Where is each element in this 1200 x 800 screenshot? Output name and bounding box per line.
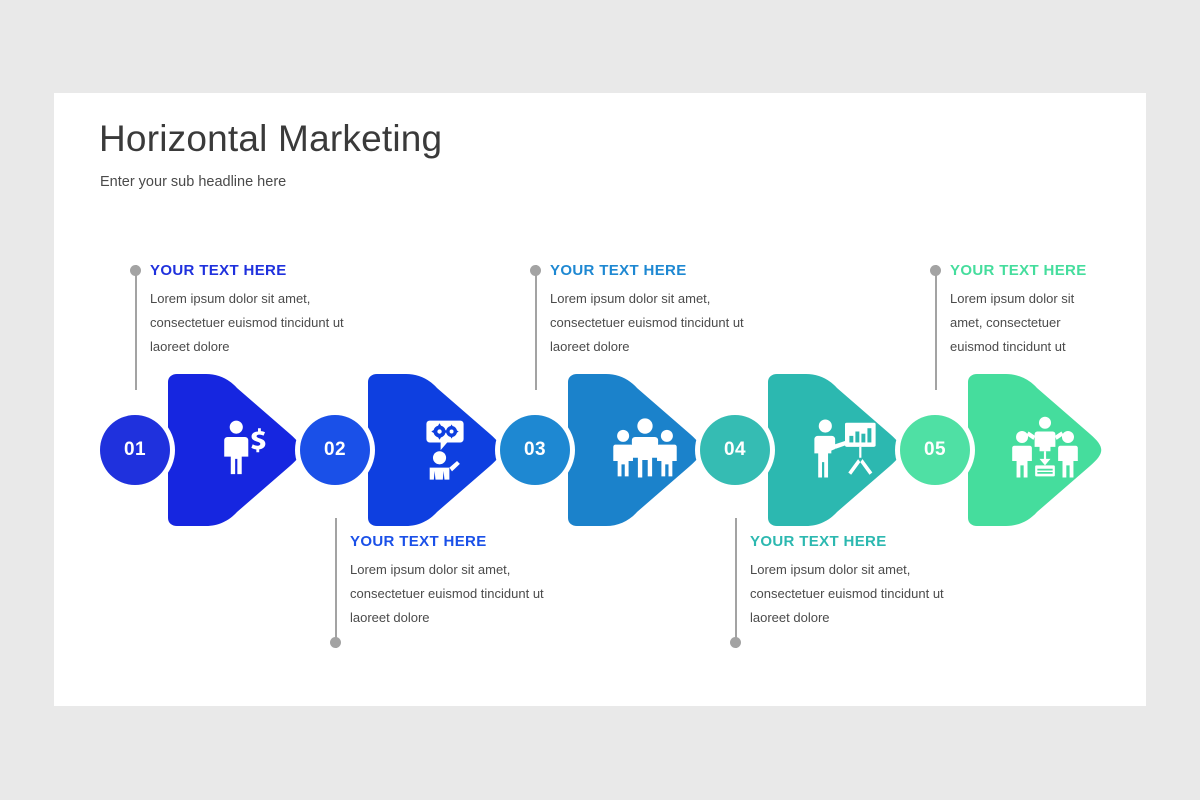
step-text-block-02: YOUR TEXT HERELorem ipsum dolor sit amet…: [350, 534, 550, 631]
connector-stem: [735, 518, 737, 648]
connector-line-01: [130, 265, 141, 390]
step-text-block-05: YOUR TEXT HERELorem ipsum dolor sit amet…: [950, 263, 1150, 360]
step-body-04: Lorem ipsum dolor sit amet, consectetuer…: [750, 558, 950, 631]
connector-dot: [930, 265, 941, 276]
step-number-label: 03: [524, 439, 546, 461]
step-number-label: 05: [924, 439, 946, 461]
step-01[interactable]: YOUR TEXT HERELorem ipsum dolor sit amet…: [132, 93, 352, 706]
step-body-02: Lorem ipsum dolor sit amet, consectetuer…: [350, 558, 550, 631]
step-text-block-04: YOUR TEXT HERELorem ipsum dolor sit amet…: [750, 534, 950, 631]
connector-stem: [135, 265, 137, 390]
connector-dot: [730, 637, 741, 648]
step-number-badge-02[interactable]: 02: [300, 415, 370, 485]
connector-line-04: [730, 518, 741, 648]
step-number-label: 02: [324, 439, 346, 461]
step-02[interactable]: YOUR TEXT HERELorem ipsum dolor sit amet…: [332, 93, 552, 706]
step-text-block-01: YOUR TEXT HERELorem ipsum dolor sit amet…: [150, 263, 350, 360]
step-title-01: YOUR TEXT HERE: [150, 263, 350, 280]
step-title-02: YOUR TEXT HERE: [350, 534, 550, 551]
slide-card: Horizontal Marketing Enter your sub head…: [54, 93, 1146, 706]
step-title-03: YOUR TEXT HERE: [550, 263, 750, 280]
step-03[interactable]: YOUR TEXT HERELorem ipsum dolor sit amet…: [532, 93, 752, 706]
step-number-label: 04: [724, 439, 746, 461]
step-number-badge-04[interactable]: 04: [700, 415, 770, 485]
connector-dot: [330, 637, 341, 648]
connector-stem: [335, 518, 337, 648]
connector-line-05: [930, 265, 941, 390]
step-number-badge-05[interactable]: 05: [900, 415, 970, 485]
step-number-badge-01[interactable]: 01: [100, 415, 170, 485]
step-body-03: Lorem ipsum dolor sit amet, consectetuer…: [550, 287, 750, 360]
connector-dot: [530, 265, 541, 276]
connector-stem: [935, 265, 937, 390]
connector-line-02: [330, 518, 341, 648]
connector-line-03: [530, 265, 541, 390]
connector-dot: [130, 265, 141, 276]
step-body-05: Lorem ipsum dolor sit amet, consectetuer…: [950, 287, 1110, 360]
step-number-badge-03[interactable]: 03: [500, 415, 570, 485]
step-title-04: YOUR TEXT HERE: [750, 534, 950, 551]
step-body-01: Lorem ipsum dolor sit amet, consectetuer…: [150, 287, 350, 360]
step-number-label: 01: [124, 439, 146, 461]
step-text-block-03: YOUR TEXT HERELorem ipsum dolor sit amet…: [550, 263, 750, 360]
step-05[interactable]: YOUR TEXT HERELorem ipsum dolor sit amet…: [932, 93, 1152, 706]
step-title-05: YOUR TEXT HERE: [950, 263, 1150, 280]
connector-stem: [535, 265, 537, 390]
step-04[interactable]: YOUR TEXT HERELorem ipsum dolor sit amet…: [732, 93, 952, 706]
